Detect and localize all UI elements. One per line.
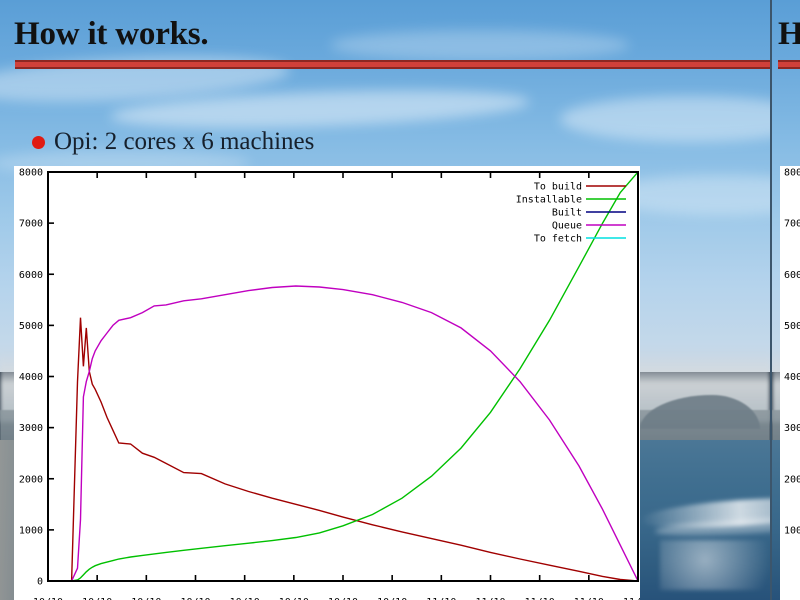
y-axis-tick-label: 1000 <box>19 525 43 536</box>
series-line-to-build <box>48 318 638 581</box>
list-item: Opi: 2 cores x 6 machines <box>32 128 314 156</box>
slide-main: How it works. Opi: 2 cores x 6 machines … <box>0 0 770 600</box>
y-axis-tick-label-next: 7000 <box>784 219 800 230</box>
y-axis-tick-label: 3000 <box>19 423 43 434</box>
page-title-next: H <box>778 16 800 53</box>
y-axis-tick-label: 8000 <box>19 168 43 179</box>
legend-label: Built <box>552 208 582 219</box>
y-axis-tick-label-next: 6000 <box>784 270 800 281</box>
cloud <box>330 30 630 60</box>
legend-label: Queue <box>552 221 582 232</box>
y-axis-tick-label-next: 8000 <box>784 168 800 179</box>
y-axis-tick-label-next: 4000 <box>784 372 800 383</box>
title-underline-rule <box>15 60 770 69</box>
page-title: How it works. <box>14 16 208 53</box>
y-axis-tick-label-next: 1000 <box>784 525 800 536</box>
red-dot-icon <box>32 136 45 149</box>
y-axis-tick-label: 4000 <box>19 372 43 383</box>
slide-next-partial[interactable]: H 80007000600050004000300020001000 <box>770 0 800 600</box>
legend-label: To fetch <box>534 234 582 245</box>
title-underline-rule-next <box>778 60 800 69</box>
legend-label: To build <box>534 182 582 193</box>
sea-foam <box>660 540 770 590</box>
y-axis-tick-label: 5000 <box>19 321 43 332</box>
gnuplot-chart: 01000200030004000500060007000800010/1010… <box>14 166 640 600</box>
chart-canvas-next: 80007000600050004000300020001000 <box>780 166 800 600</box>
series-line-queue <box>48 286 638 581</box>
y-axis-tick-label: 6000 <box>19 270 43 281</box>
y-axis-tick-label: 0 <box>37 577 43 588</box>
chart-canvas: 01000200030004000500060007000800010/1010… <box>14 166 640 600</box>
y-axis-tick-label: 2000 <box>19 474 43 485</box>
gnuplot-chart-next: 80007000600050004000300020001000 <box>780 166 800 600</box>
legend-label: Installable <box>516 195 582 206</box>
bullet-label: Opi: 2 cores x 6 machines <box>54 128 314 156</box>
y-axis-tick-label-next: 3000 <box>784 423 800 434</box>
y-axis-tick-label-next: 5000 <box>784 321 800 332</box>
y-axis-tick-label: 7000 <box>19 219 43 230</box>
y-axis-tick-label-next: 2000 <box>784 474 800 485</box>
